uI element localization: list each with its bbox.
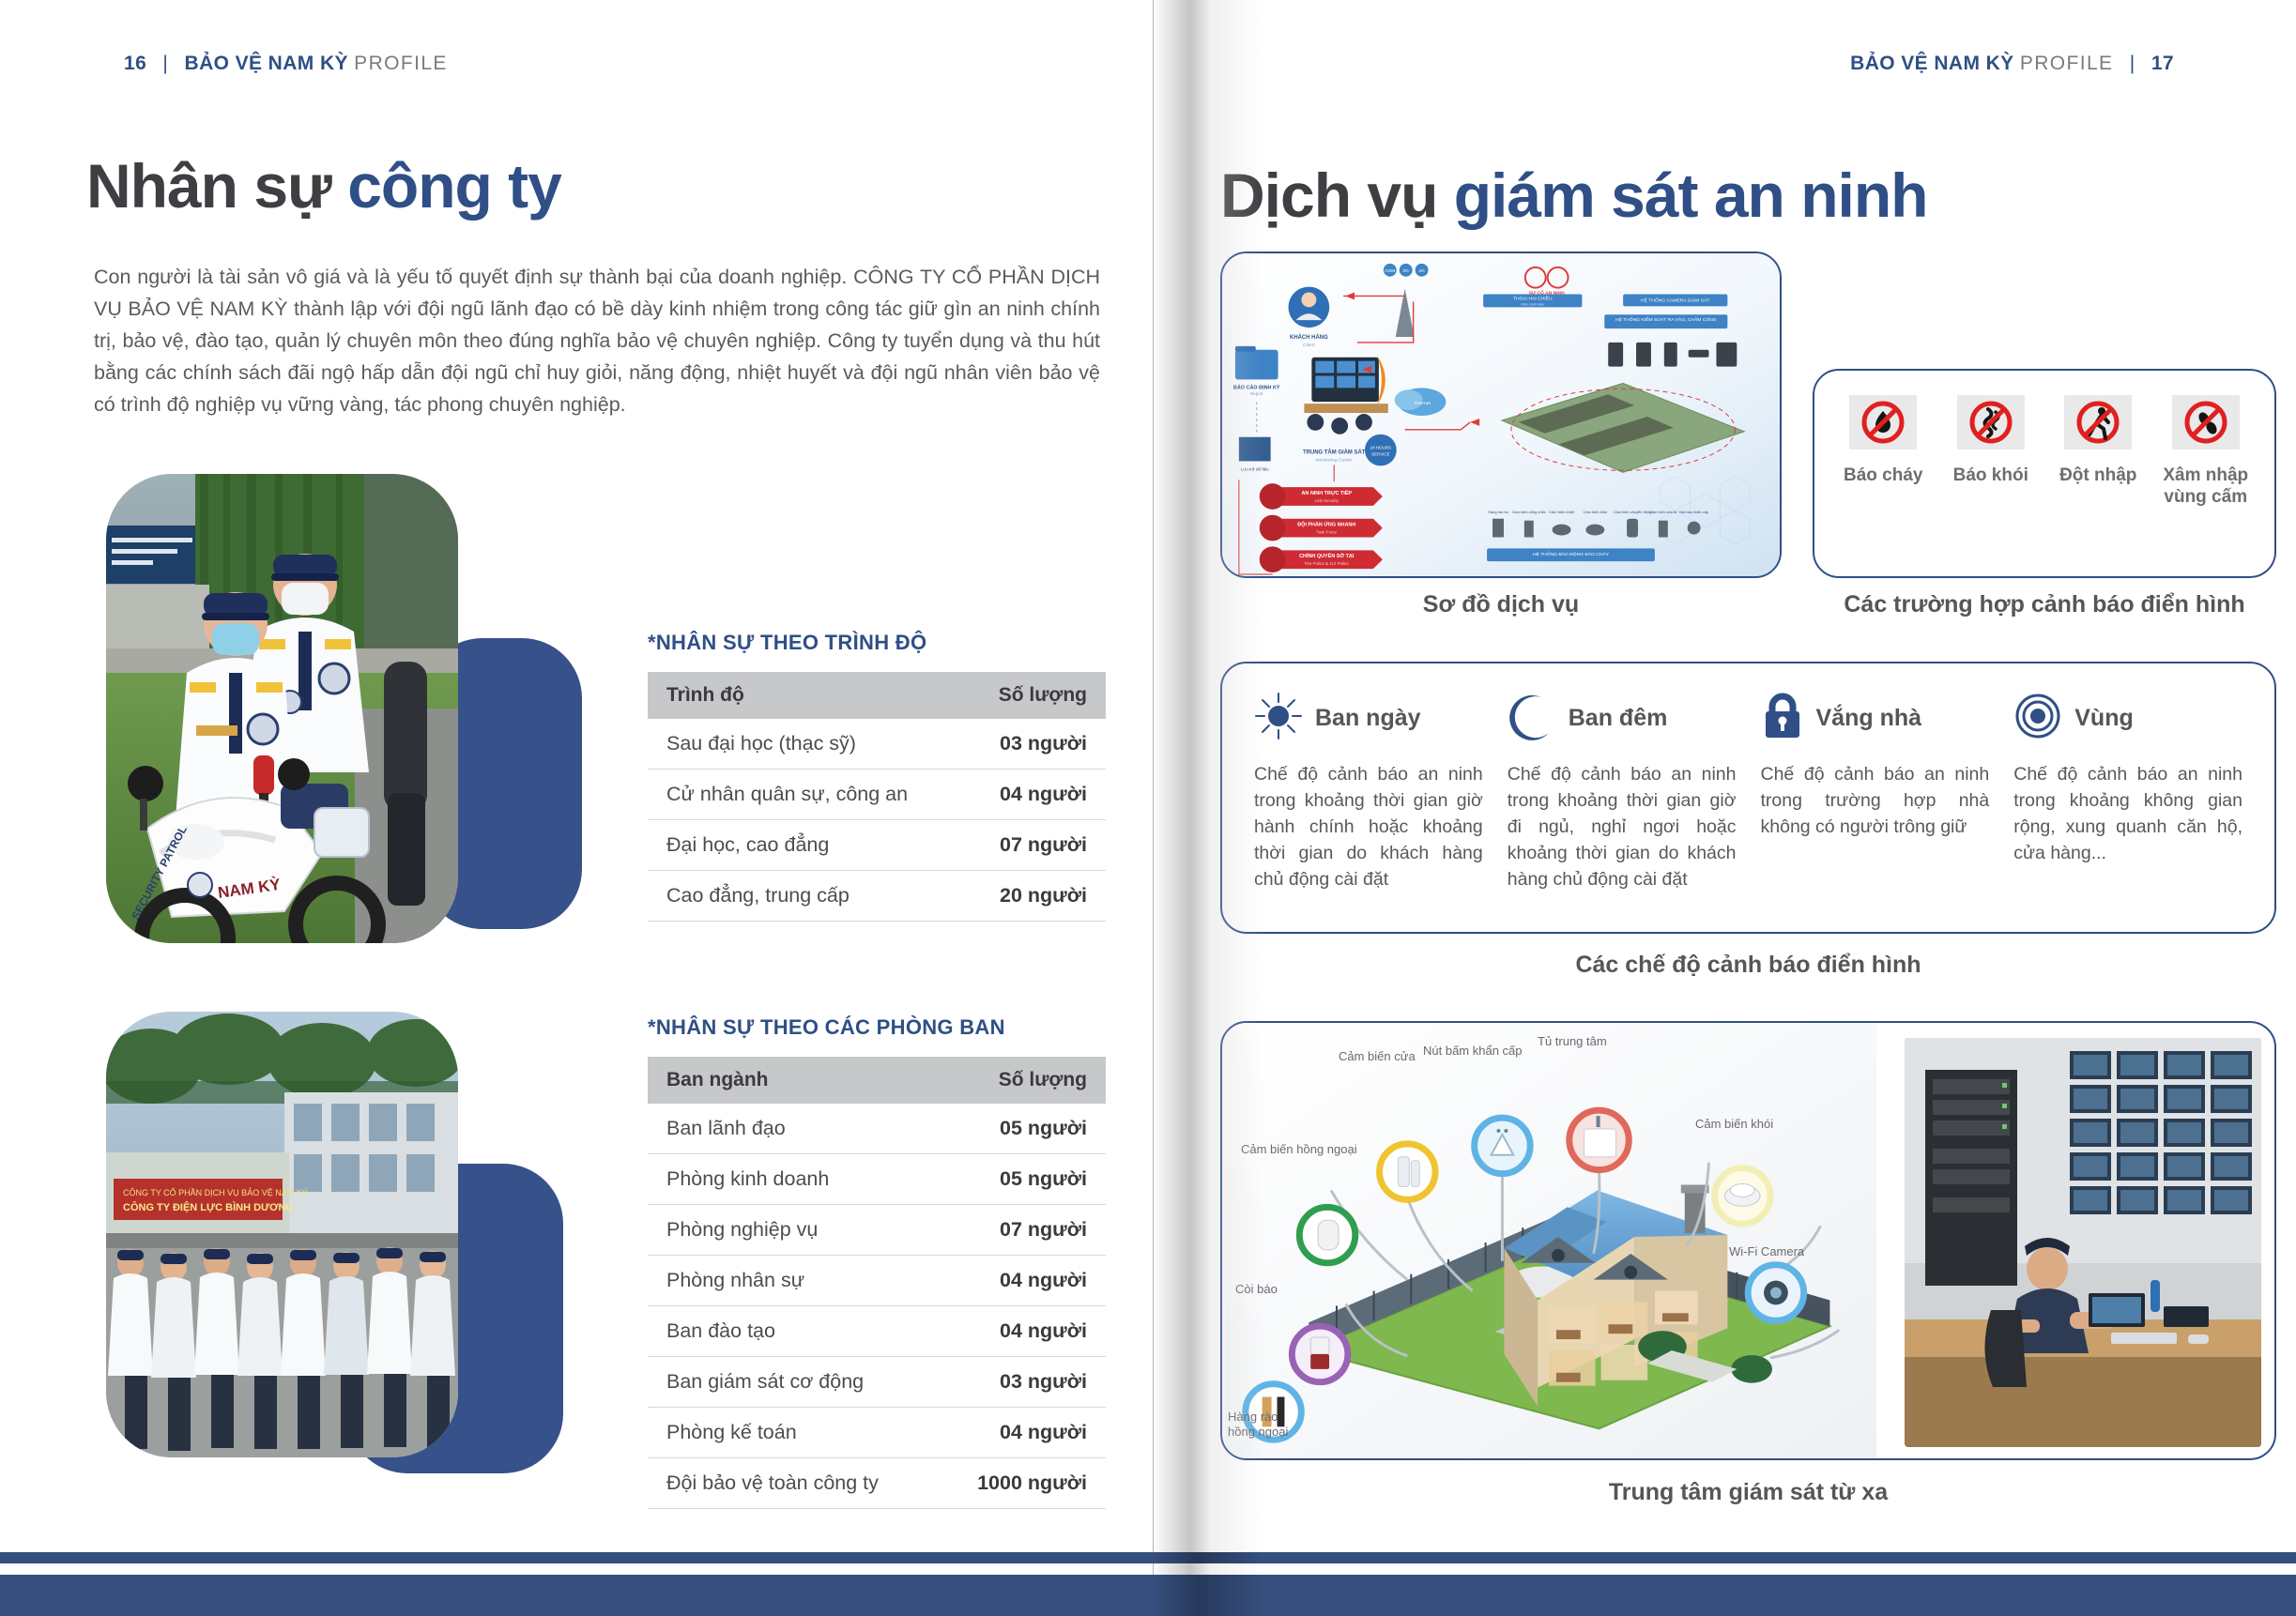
cell-count: 04 người [877,1256,1106,1306]
warning-case-fire: Báo cháy [1832,395,1934,486]
table-header-row: Ban ngành Số lượng [648,1057,1106,1104]
alert-mode-away: Vắng nhà Chế độ cảnh báo an ninh trong t… [1761,692,1990,892]
cell-count: 03 người [877,719,1106,770]
table-row: Ban đào tạo 04 người [648,1306,1106,1357]
column-header-level: Trình độ [648,672,877,719]
table-row: Ban giám sát cơ động 03 người [648,1357,1106,1408]
house-label-door-sensor: Cảm biến cửa [1339,1049,1416,1064]
warning-cases-card: Báo cháy Báo khói [1813,369,2276,578]
footer-bar-thick [0,1575,2296,1616]
svg-text:Link Security: Link Security [1315,498,1339,503]
svg-text:CÔNG TY ĐIỆN LỰC BÌNH DƯƠNG: CÔNG TY ĐIỆN LỰC BÌNH DƯƠNG [123,1201,294,1213]
warning-case-intrusion-label: Đột nhập [2047,465,2149,486]
cell-count: 04 người [877,1408,1106,1458]
running-head-right: BẢO VỆ NAM KỲ PROFILE | 17 [1850,53,2174,75]
warning-case-restricted: Xâm nhập vùng cấm [2155,395,2257,508]
alert-mode-night-name: Ban đêm [1569,705,1668,732]
column-header-count: Số lượng [877,1057,1106,1104]
cell-label: Ban giám sát cơ động [648,1357,877,1408]
alert-mode-daytime-head: Ban ngày [1254,692,1483,744]
warning-case-fire-label: Báo cháy [1832,465,1934,486]
profile-word-left: PROFILE [354,53,448,74]
cell-label: Đại học, cao đẳng [648,820,877,871]
column-header-department: Ban ngành [648,1057,877,1104]
svg-text:GSM: GSM [1385,268,1395,274]
page-title-right-part1: Dịch vụ [1220,160,1437,230]
svg-text:4G: 4G [1418,268,1425,274]
cell-count: 05 người [877,1154,1106,1205]
table-departments-title: *NHÂN SỰ THEO CÁC PHÒNG BAN [648,1015,1106,1040]
house-label-control-panel: Tủ trung tâm [1538,1034,1607,1049]
page-fold-line [1153,0,1154,1616]
table-row: Phòng kế toán 04 người [648,1408,1106,1458]
page-title-right-part2: giám sát an ninh [1454,160,1928,230]
svg-text:CÔNG TY CỔ PHẦN DỊCH VỤ BẢO VỆ: CÔNG TY CỔ PHẦN DỊCH VỤ BẢO VỆ NAM KỲ [123,1187,308,1197]
page-title-right: Dịch vụ giám sát an ninh [1220,160,1927,231]
alert-mode-night-head: Ban đêm [1508,692,1737,744]
svg-text:Cảm biến cổng chắn: Cảm biến cổng chắn [1512,510,1546,514]
svg-text:Nút báo khẩn cấp: Nút báo khẩn cấp [1679,510,1709,514]
cell-count: 07 người [877,1205,1106,1256]
warning-cases-row: Báo cháy Báo khói [1814,371,2274,508]
cell-count: 04 người [877,1306,1106,1357]
cell-label: Đội bảo vệ toàn công ty [648,1458,877,1509]
page-title-left-part1: Nhân sự [86,151,331,221]
cell-label: Cử nhân quân sự, công an [648,770,877,820]
caption-remote-monitoring-center: Trung tâm giám sát từ xa [1220,1479,2276,1506]
sun-icon [1254,692,1303,745]
svg-text:Report: Report [1250,391,1263,396]
brand-name-left: BẢO VỆ NAM KỲ [185,53,348,74]
svg-text:24 HOURS: 24 HOURS [1370,446,1391,450]
table-row: Phòng nghiệp vụ 07 người [648,1205,1106,1256]
svg-text:KHÁCH HÀNG: KHÁCH HÀNG [1290,334,1328,341]
lock-icon [1761,692,1804,745]
table-row: Đội bảo vệ toàn công ty 1000 người [648,1458,1106,1509]
svg-text:Client: Client [1303,343,1315,348]
caption-warning-cases: Các trường hợp cảnh báo điển hình [1813,591,2276,618]
table-row: Ban lãnh đạo 05 người [648,1104,1106,1154]
cell-label: Sau đại học (thạc sỹ) [648,719,877,770]
svg-text:3G: 3G [1402,268,1409,274]
svg-text:Lưu trữ dữ liệu: Lưu trữ dữ liệu [1241,466,1269,471]
cell-count: 04 người [877,770,1106,820]
no-intruder-icon [2064,395,2132,450]
table-departments: *NHÂN SỰ THEO CÁC PHÒNG BAN Ban ngành Số… [648,1015,1106,1509]
warning-case-intrusion: Đột nhập [2047,395,2149,486]
alert-mode-night-desc: Chế độ cảnh báo an ninh trong khoảng thờ… [1508,761,1737,892]
alert-mode-zone-head: Vùng [2013,692,2242,744]
cell-count: 1000 người [877,1458,1106,1509]
alert-mode-away-head: Vắng nhà [1761,692,1990,744]
cell-label: Phòng kinh doanh [648,1154,877,1205]
no-fire-icon [1849,395,1917,450]
column-header-count: Số lượng [877,672,1106,719]
svg-text:ĐỘI PHẢN ỨNG NHANH: ĐỘI PHẢN ỨNG NHANH [1297,521,1355,528]
table-row: Phòng nhân sự 04 người [648,1256,1106,1306]
photo-guards-on-motorbike: NAM KỲ SECURITY PATROL [106,474,458,943]
svg-text:SERVICE: SERVICE [1371,452,1389,457]
running-head-left: 16 | BẢO VỆ NAM KỲ PROFILE [124,53,448,75]
table-row: Cử nhân quân sự, công an 04 người [648,770,1106,820]
svg-text:Monitoring Center: Monitoring Center [1316,457,1354,463]
alert-mode-daytime: Ban ngày Chế độ cảnh báo an ninh trong k… [1254,692,1483,892]
svg-text:BÁO CÁO ĐỊNH KỲ: BÁO CÁO ĐỊNH KỲ [1233,384,1280,390]
house-label-wifi-camera: Wi-Fi Camera [1729,1244,1804,1259]
cell-label: Ban đào tạo [648,1306,877,1357]
page-number-left: 16 [124,53,146,74]
svg-text:Cảm biến cửa từ: Cảm biến cửa từ [1649,510,1677,514]
house-label-siren: Còi báo [1235,1282,1278,1297]
house-label-infrared-sensor: Cảm biến hồng ngoại [1241,1142,1357,1157]
table-row: Cao đẳng, trung cấp 20 người [648,871,1106,922]
svg-text:Cảm biến nhiệt: Cảm biến nhiệt [1549,510,1575,514]
house-label-panic-button: Nút bấm khẩn cấp [1423,1044,1523,1059]
alert-mode-daytime-desc: Chế độ cảnh báo an ninh trong khoảng thờ… [1254,761,1483,892]
page-number-right: 17 [2151,53,2174,74]
alert-modes-card: Ban ngày Chế độ cảnh báo an ninh trong k… [1220,662,2276,934]
cell-label: Ban lãnh đạo [648,1104,877,1154]
no-restricted-area-icon [2172,395,2240,450]
running-head-separator-right: | [2130,53,2135,74]
warning-case-restricted-label: Xâm nhập vùng cấm [2155,465,2257,508]
cell-count: 07 người [877,820,1106,871]
service-diagram-card: KHÁCH HÀNG Client BÁO CÁO ĐỊNH KỲ Report… [1220,252,1782,578]
zone-target-icon [2013,692,2062,745]
svg-text:CHÍNH QUYỀN SỞ TẠI: CHÍNH QUYỀN SỞ TẠI [1299,552,1355,559]
caption-alert-modes: Các chế độ cảnh báo điển hình [1220,952,2276,979]
svg-text:AN NINH TRỰC TIẾP: AN NINH TRỰC TIẾP [1301,490,1352,496]
cell-label: Phòng kế toán [648,1408,877,1458]
svg-text:Cảm biến khói: Cảm biến khói [1584,510,1607,514]
intro-paragraph: Con người là tài sản vô giá và là yếu tố… [94,261,1100,420]
brand-name-right: BẢO VỆ NAM KỲ [1850,53,2013,74]
profile-word-right: PROFILE [2020,53,2114,74]
cell-count: 20 người [877,871,1106,922]
cell-count: 05 người [877,1104,1106,1154]
table-education: *NHÂN SỰ THEO TRÌNH ĐỘ Trình độ Số lượng… [648,631,1106,922]
alert-mode-away-desc: Chế độ cảnh báo an ninh trong trường hợp… [1761,761,1990,840]
alert-modes-row: Ban ngày Chế độ cảnh báo an ninh trong k… [1222,663,2274,892]
alert-mode-zone-name: Vùng [2074,705,2134,732]
page-title-left-part2: công ty [347,151,561,221]
table-education-title: *NHÂN SỰ THEO TRÌNH ĐỘ [648,631,1106,655]
warning-case-smoke: Báo khói [1940,395,2042,486]
alert-mode-zone: Vùng Chế độ cảnh báo an ninh trong khoản… [2013,692,2242,892]
svg-text:Task Force: Task Force [1316,530,1337,535]
cell-label: Phòng nhân sự [648,1256,877,1306]
photo-guard-team-lineup: CÔNG TY CỔ PHẦN DỊCH VỤ BẢO VỆ NAM KỲ CÔ… [106,1012,458,1457]
table-row: Đại học, cao đẳng 07 người [648,820,1106,871]
footer-bar-thin [0,1552,2296,1563]
alert-mode-zone-desc: Chế độ cảnh báo an ninh trong khoảng khô… [2013,761,2242,866]
cell-count: 03 người [877,1357,1106,1408]
alert-mode-night: Ban đêm Chế độ cảnh báo an ninh trong kh… [1508,692,1737,892]
smart-home-card: Cảm biến cửa Nút bấm khẩn cấp Tủ trung t… [1220,1021,2276,1460]
table-header-row: Trình độ Số lượng [648,672,1106,719]
table-row: Phòng kinh doanh 05 người [648,1154,1106,1205]
svg-text:Fire Police & 113 Police: Fire Police & 113 Police [1305,561,1349,566]
house-label-infrared-fence: Hàng rào hồng ngoại [1228,1410,1288,1440]
table-row: Sau đại học (thạc sỹ) 03 người [648,719,1106,770]
svg-text:Hàng rào ảo: Hàng rào ảo [1488,510,1509,514]
moon-icon [1508,692,1556,745]
magazine-spread: 16 | BẢO VỆ NAM KỲ PROFILE Nhân sự công … [0,0,2296,1616]
svg-text:THOẠI HAI CHIỀU: THOẠI HAI CHIỀU [1513,295,1553,301]
cell-label: Phòng nghiệp vụ [648,1205,877,1256]
alert-mode-away-name: Vắng nhà [1816,705,1922,732]
running-head-separator-left: | [162,53,168,74]
house-label-smoke-sensor: Cảm biến khói [1695,1117,1773,1132]
cell-label: Cao đẳng, trung cấp [648,871,877,922]
caption-service-diagram: Sơ đồ dịch vụ [1220,591,1782,618]
svg-text:Cảm biến chuyển động: Cảm biến chuyển động [1614,510,1652,514]
smart-home-illustration: Cảm biến cửa Nút bấm khẩn cấp Tủ trung t… [1222,1023,1879,1458]
no-smoke-icon [1957,395,2025,450]
svg-text:Internet: Internet [1415,401,1431,406]
warning-case-smoke-label: Báo khói [1940,465,2042,486]
alert-mode-daytime-name: Ban ngày [1315,705,1421,732]
svg-text:TRUNG TÂM GIÁM SÁT: TRUNG TÂM GIÁM SÁT [1303,450,1366,456]
page-title-left: Nhân sự công ty [86,150,561,221]
svg-text:Mini controller: Mini controller [1521,301,1544,306]
photo-monitoring-room [1905,1038,2261,1447]
